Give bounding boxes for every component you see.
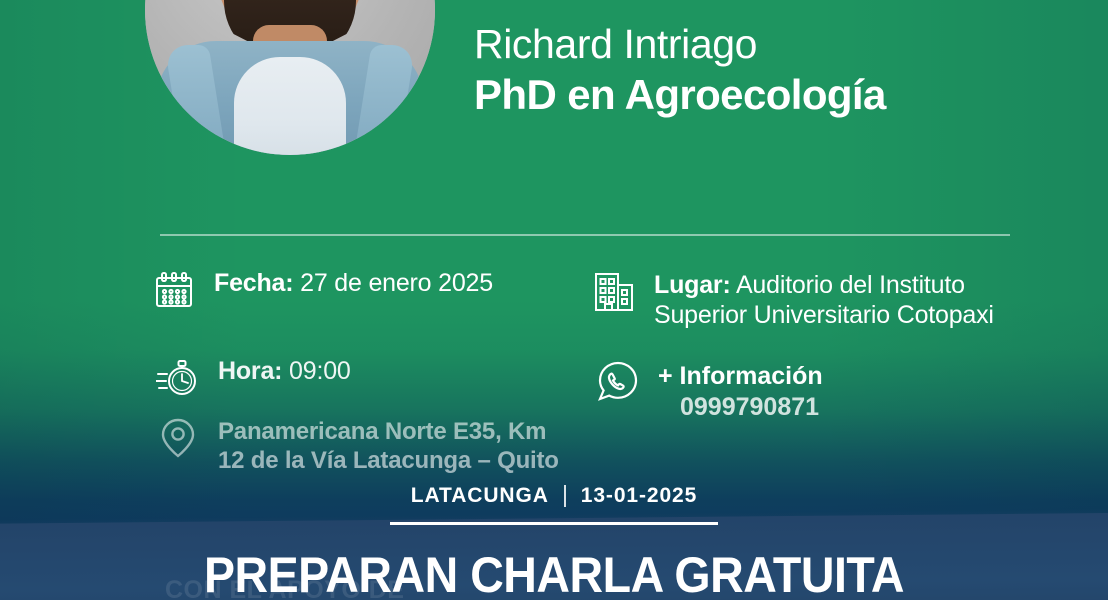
caption-separator <box>564 485 566 507</box>
detail-text-lugar: Lugar: Auditorio del Instituto Superior … <box>654 268 1050 330</box>
detail-row-informacion: + Información 0999790871 <box>594 358 823 422</box>
caption-underline <box>390 522 718 525</box>
caption-line: LATACUNGA 13-01-2025 <box>411 484 697 508</box>
horizontal-divider <box>160 234 1010 236</box>
detail-text-hora: Hora: 09:00 <box>218 354 351 387</box>
speaker-name-block: Richard Intriago PhD en Agroecología <box>474 22 886 118</box>
detail-label-lugar: Lugar: <box>654 271 731 299</box>
caption-block: LATACUNGA 13-01-2025 <box>0 484 1108 525</box>
calendar-icon <box>150 266 198 314</box>
detail-label-hora: Hora: <box>218 357 282 385</box>
speaker-degree: PhD en Agroecología <box>474 71 886 118</box>
flyer-canvas: Richard Intriago PhD en Agroecología <box>0 0 1108 600</box>
stopwatch-icon <box>154 354 202 402</box>
headline: PREPARAN CHARLA GRATUITA <box>39 546 1069 600</box>
detail-row-direccion: Panamericana Norte E35, Km 12 de la Vía … <box>154 414 570 476</box>
detail-row-hora: Hora: 09:00 <box>154 354 351 402</box>
informacion-label: + Información <box>658 362 823 390</box>
building-icon <box>590 268 638 316</box>
detail-row-lugar: Lugar: Auditorio del Instituto Superior … <box>590 268 1050 330</box>
tshirt <box>234 57 346 155</box>
detail-value-direccion: Panamericana Norte E35, Km 12 de la Vía … <box>218 414 570 476</box>
detail-text-informacion: + Información 0999790871 <box>658 358 823 422</box>
location-pin-icon <box>154 414 202 462</box>
detail-text-fecha: Fecha: 27 de enero 2025 <box>214 266 493 299</box>
detail-value-hora: 09:00 <box>289 357 351 385</box>
speaker-name: Richard Intriago <box>474 22 886 67</box>
detail-row-fecha: Fecha: 27 de enero 2025 <box>150 266 493 314</box>
whatsapp-icon <box>594 358 642 406</box>
detail-value-fecha: 27 de enero 2025 <box>300 269 493 297</box>
speaker-photo <box>145 0 435 155</box>
informacion-phone: 0999790871 <box>680 392 823 423</box>
caption-date: 13-01-2025 <box>581 484 697 508</box>
caption-city: LATACUNGA <box>411 484 549 508</box>
detail-label-fecha: Fecha: <box>214 269 293 297</box>
